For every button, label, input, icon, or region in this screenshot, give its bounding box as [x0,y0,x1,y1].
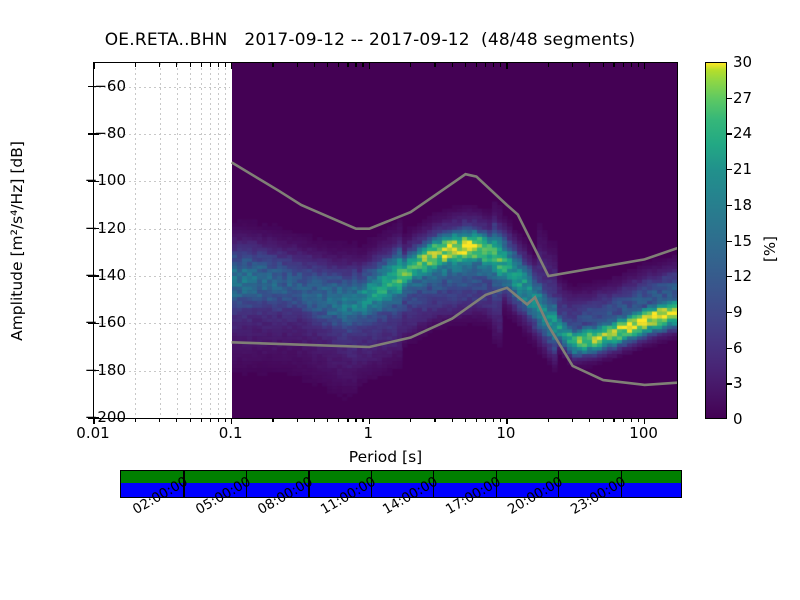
x-axis-tick [135,418,136,422]
colorbar-tick-label: 27 [733,89,752,107]
x-axis-tick [613,63,614,67]
colorbar-tick [727,241,732,242]
x-axis-tick [638,63,639,67]
x-axis-tick [347,63,348,67]
axes-inner [94,63,677,418]
x-axis-tick [338,63,339,67]
x-axis-tick [297,63,298,67]
x-axis-tick [159,63,160,67]
colorbar-tick-label: 3 [733,374,743,392]
x-axis-tick [572,418,573,422]
x-axis-tick [347,418,348,422]
colorbar-tick-label: 21 [733,160,752,178]
x-axis-tick [589,418,590,422]
x-axis-tick [465,418,466,422]
x-axis-tick [314,418,315,422]
x-axis-tick [159,418,160,422]
x-axis-tick [548,63,549,67]
x-axis-tick [631,418,632,422]
x-axis-tick [589,63,590,67]
x-axis-tick [485,63,486,67]
x-axis-label-text: Period [s] [349,448,422,466]
x-axis-tick [201,418,202,422]
x-axis-tick [231,63,232,69]
x-axis-tick [434,418,435,422]
x-axis-tick [272,418,273,422]
colorbar [705,62,727,419]
x-axis-tick [493,63,494,67]
y-tick-label: −60 [94,77,126,95]
x-tick-label: 10 [496,424,515,442]
x-axis-tick [176,418,177,422]
x-axis-tick [572,63,573,67]
colorbar-tick [727,383,732,384]
high-noise-model-curve [232,162,677,276]
y-tick-label: −80 [94,124,126,142]
x-axis-tick [548,418,549,422]
x-axis-tick [135,63,136,67]
x-axis-tick [218,418,219,422]
x-axis-tick [362,63,363,67]
x-axis-tick [201,63,202,67]
colorbar-tick-label: 6 [733,339,743,357]
y-tick-label: −160 [85,313,126,331]
y-axis-label-text: Amplitude [m²/s⁴/Hz] [dB] [8,141,26,341]
x-axis-tick [476,63,477,67]
x-axis-tick [638,418,639,422]
x-axis-tick [93,63,94,69]
x-axis-tick [338,418,339,422]
colorbar-unit-text: [%] [761,236,779,262]
colorbar-unit-label: [%] [757,240,783,258]
timeline-data-bar [121,471,681,483]
x-axis-tick [225,418,226,422]
x-axis-tick [500,63,501,67]
colorbar-tick [727,133,732,134]
x-axis-tick [176,63,177,67]
y-tick-label: −140 [85,266,126,284]
page-title: OE.RETA..BHN 2017-09-12 -- 2017-09-12 (4… [0,30,740,50]
colorbar-tick-label: 24 [733,124,752,142]
colorbar-tick [727,312,732,313]
colorbar-tick-label: 30 [733,53,752,71]
x-axis-tick [506,63,507,69]
colorbar-tick-label: 18 [733,196,752,214]
x-axis-tick [603,63,604,67]
y-tick-label: −120 [85,219,126,237]
x-axis-tick [410,63,411,67]
x-axis-tick [190,63,191,67]
colorbar-tick-label: 9 [733,303,743,321]
x-axis-tick [218,63,219,67]
x-tick-label: 0.01 [76,424,109,442]
x-axis-tick [314,63,315,67]
x-axis-tick [493,418,494,422]
x-axis-label: Period [s] [93,448,678,466]
x-axis-tick [327,418,328,422]
x-axis-tick [500,418,501,422]
x-axis-tick [623,63,624,67]
ppsd-plot-axes [93,62,678,419]
x-axis-tick [190,418,191,422]
x-axis-tick [452,418,453,422]
x-tick-label: 1 [364,424,374,442]
x-axis-tick [272,63,273,67]
x-axis-tick [434,63,435,67]
x-axis-tick [210,418,211,422]
colorbar-tick-label: 12 [733,267,752,285]
x-axis-tick [355,418,356,422]
x-tick-label: 0.1 [219,424,243,442]
x-axis-tick [452,63,453,67]
x-axis-tick [603,418,604,422]
x-axis-tick [225,63,226,67]
x-axis-tick [210,63,211,67]
colorbar-tick [727,169,732,170]
x-axis-tick [369,63,370,69]
y-tick-label: −180 [85,361,126,379]
x-axis-tick [631,63,632,67]
x-tick-label: 100 [629,424,658,442]
x-axis-tick [327,63,328,67]
x-axis-tick [623,418,624,422]
y-tick-label: −100 [85,171,126,189]
colorbar-tick [727,348,732,349]
x-axis-tick [644,63,645,69]
colorbar-tick [727,98,732,99]
x-axis-tick [410,418,411,422]
low-noise-model-curve [232,288,677,385]
x-axis-tick [362,418,363,422]
colorbar-tick [727,205,732,206]
x-axis-tick [476,418,477,422]
colorbar-tick-label: 0 [733,410,743,428]
colorbar-tick [727,276,732,277]
y-axis-label: Amplitude [m²/s⁴/Hz] [dB] [6,62,28,419]
x-axis-tick [485,418,486,422]
x-axis-tick [613,418,614,422]
x-axis-tick [465,63,466,67]
x-axis-tick [297,418,298,422]
noise-model-curves [94,63,677,418]
x-axis-tick [355,63,356,67]
colorbar-tick-label: 15 [733,232,752,250]
